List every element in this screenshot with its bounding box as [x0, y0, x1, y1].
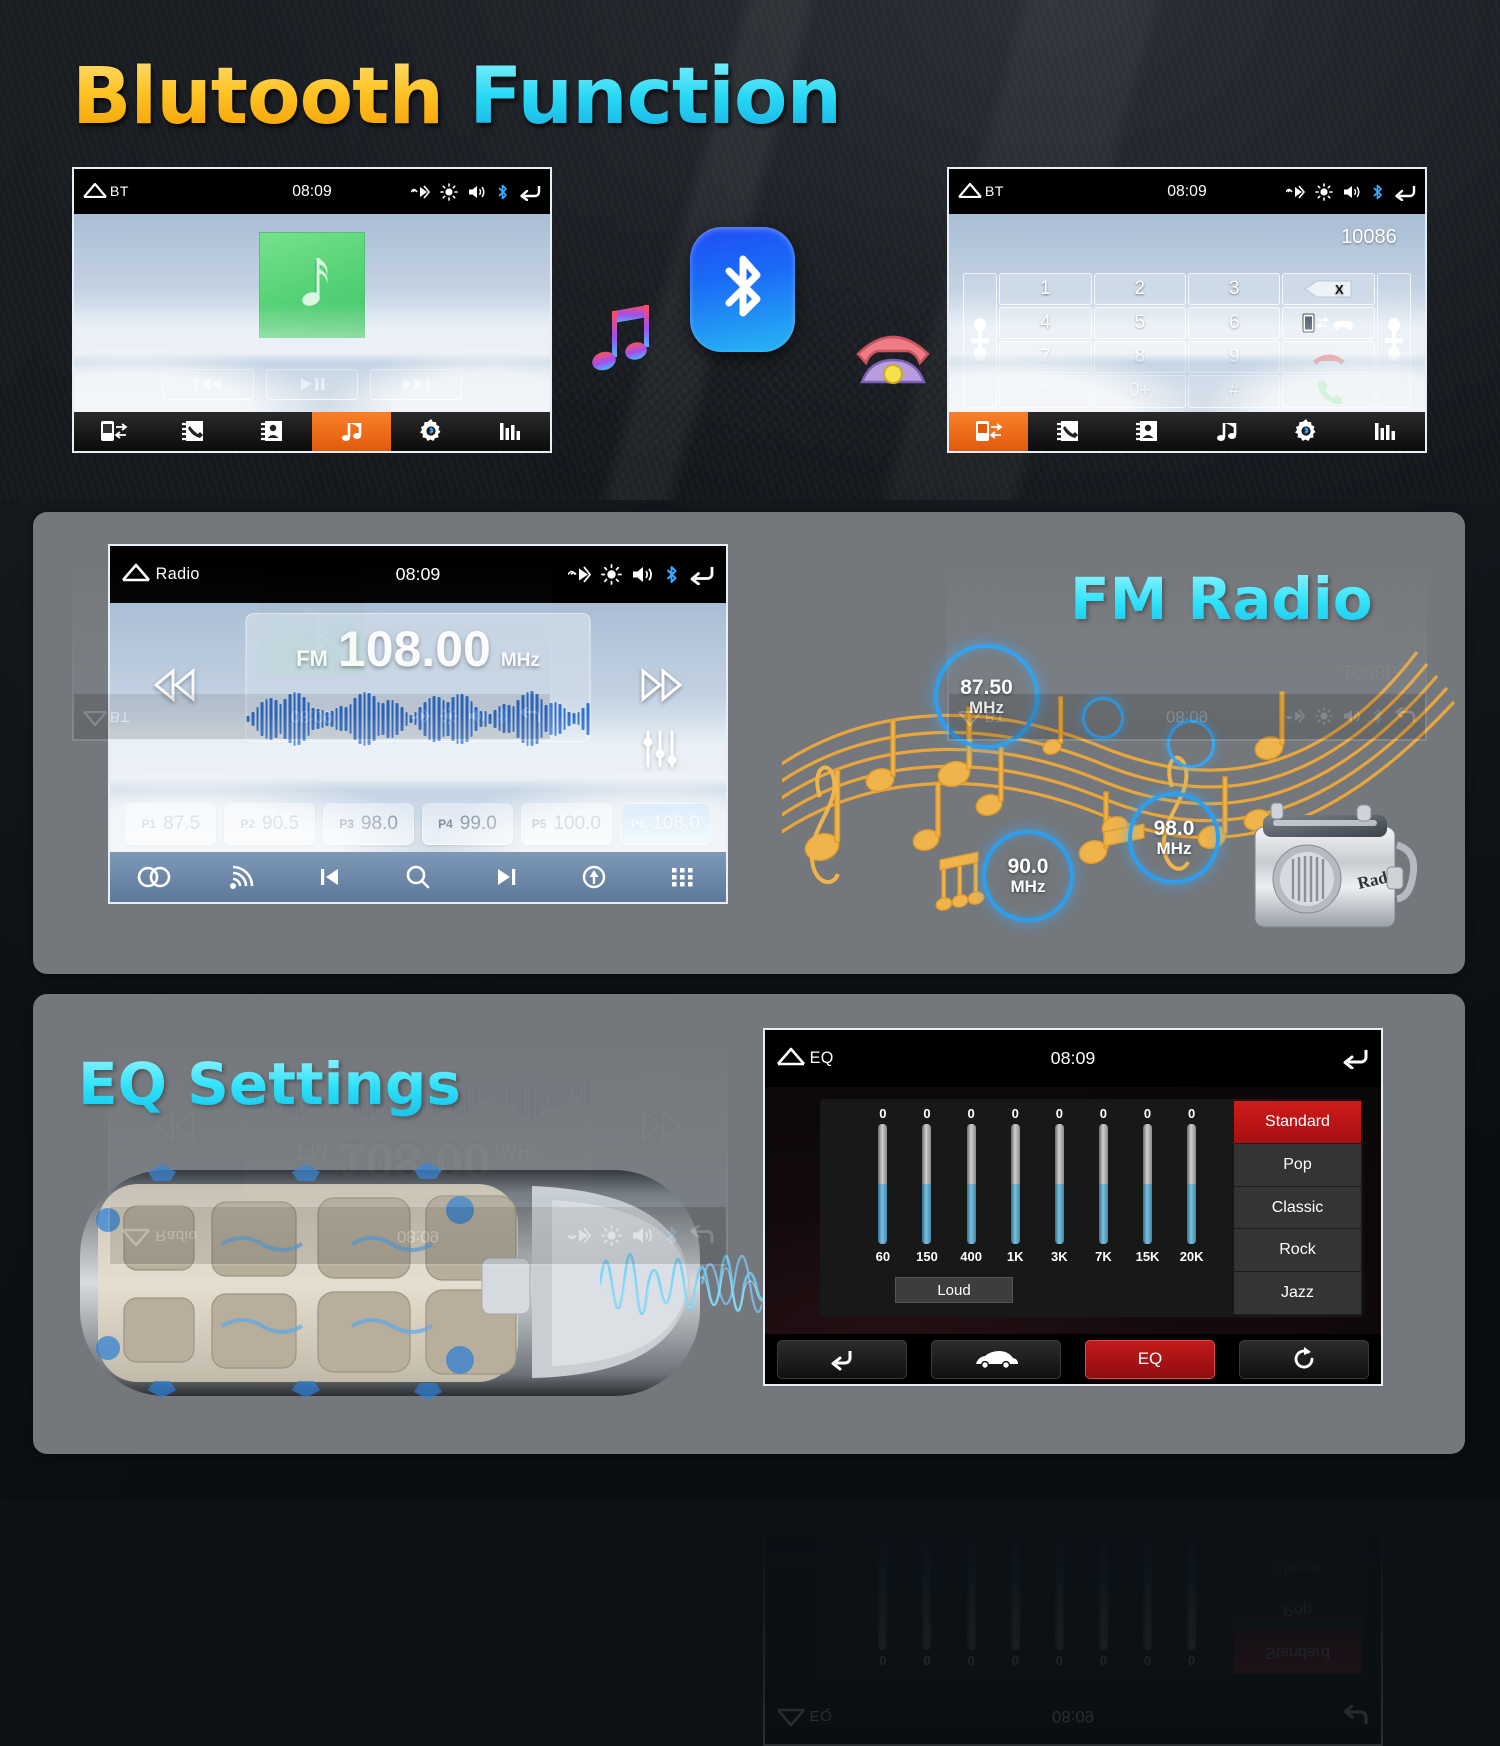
- stereo-icon[interactable]: [110, 865, 198, 889]
- seek-down-button[interactable]: [153, 668, 197, 707]
- eq-band-value: 0: [967, 1106, 974, 1121]
- dial-key-5[interactable]: 5: [1094, 307, 1186, 339]
- waveform-bar: [563, 708, 566, 731]
- eq-band-1K: 01K: [996, 1510, 1034, 1668]
- nav-call-log[interactable]: [153, 412, 232, 451]
- preset-p3[interactable]: P3 98.0: [323, 803, 414, 845]
- eq-band-fill: [878, 1530, 887, 1590]
- bt-music-clock: 08:09: [292, 183, 331, 201]
- frequency-unit: MHz: [501, 650, 540, 672]
- eq-toolbar[interactable]: EQ: [765, 1334, 1381, 1384]
- waveform-bar: [428, 698, 431, 740]
- frequency-bubble-98-0: 98.0 MHz: [1128, 792, 1220, 884]
- bubble-unit: MHz: [1157, 840, 1192, 858]
- brightness-icon[interactable]: [1315, 183, 1333, 201]
- eq-band-label: 3K: [1051, 1510, 1068, 1525]
- eq-band-value: 0: [1012, 1106, 1019, 1121]
- home-icon[interactable]: [82, 182, 108, 202]
- waveform-bar: [573, 713, 576, 724]
- bt-music-title: BT: [110, 184, 129, 200]
- preset-p2[interactable]: P2 90.5: [224, 803, 315, 845]
- waveform-bar: [540, 699, 543, 738]
- waveform-bar: [317, 709, 320, 730]
- bt-dial-screenbody: 10086 1 2 3 X 4 5 6: [949, 214, 1425, 411]
- eq-band-3K: 03K: [1040, 1510, 1078, 1668]
- next-track-button[interactable]: [370, 369, 462, 400]
- eq-band-value: 0: [923, 1106, 930, 1121]
- waveform-bar: [396, 703, 399, 735]
- waveform-bar: [549, 703, 552, 735]
- bluetooth-icon[interactable]: [496, 183, 509, 201]
- bubble-unit: MHz: [1011, 878, 1046, 896]
- eq-clock: 08:09: [1051, 1048, 1096, 1069]
- bt-music-statusbar: BT 08:09: [74, 169, 550, 214]
- waveform-bar: [386, 700, 389, 737]
- eq-band-label: 20K: [1180, 1510, 1204, 1525]
- bubble-unit: MHz: [969, 699, 1004, 717]
- eq-card: 0600150040001K03K07K015K020K Loud Standa…: [820, 1099, 1362, 1317]
- dial-key-0[interactable]: 0+: [1094, 375, 1186, 407]
- car-audio-button[interactable]: [931, 1340, 1060, 1379]
- radio-head-unit[interactable]: Radio 08:09: [108, 544, 728, 904]
- eq-band-value: 0: [967, 1653, 974, 1668]
- waveform-bar: [545, 705, 548, 732]
- preset-freq: 87.5: [163, 813, 200, 835]
- bt-dial-title: BT: [985, 184, 1004, 200]
- bt-dial-navbar[interactable]: [949, 412, 1425, 451]
- eq-band-value: 0: [1056, 1653, 1063, 1668]
- eq-band-area[interactable]: 0600150040001K03K07K015K020K Loud: [820, 1099, 1232, 1317]
- waveform-bar: [442, 700, 445, 737]
- brightness-icon[interactable]: [601, 564, 622, 585]
- waveform-bar: [331, 711, 334, 727]
- eq-band-1K[interactable]: 01K: [996, 1106, 1034, 1264]
- waveform-bar: [554, 702, 557, 735]
- preset-p6[interactable]: P6 108.0: [620, 803, 711, 845]
- waveform-bar: [284, 699, 287, 739]
- bluetooth-icon[interactable]: [664, 564, 679, 585]
- nav-bt-settings[interactable]: [391, 412, 470, 451]
- nav-bt-settings[interactable]: [1266, 412, 1345, 451]
- waveform-bar: [512, 706, 515, 732]
- eq-band-fill: [1143, 1530, 1152, 1590]
- preset-freq: 90.5: [262, 813, 299, 835]
- bluetooth-hero-artwork: [575, 225, 935, 415]
- bluetooth-icon[interactable]: [1371, 183, 1384, 201]
- preset-freq: 100.0: [553, 813, 601, 835]
- svg-text:X: X: [1335, 282, 1344, 297]
- loud-button[interactable]: Loud: [895, 1277, 1013, 1303]
- eq-band-20K[interactable]: 020K: [1173, 1106, 1211, 1264]
- signal-icon[interactable]: [198, 864, 286, 890]
- waveform-bar: [368, 693, 371, 746]
- eq-band-value: 0: [1100, 1653, 1107, 1668]
- dial-key-star[interactable]: *: [999, 375, 1091, 407]
- eq-band-slider[interactable]: [922, 1124, 931, 1244]
- eq-head-unit[interactable]: EQ 08:09 0600150040001K03K07K015K020K Lo…: [763, 1028, 1383, 1386]
- eq-band-fill: [878, 1184, 887, 1244]
- nav-equalizer[interactable]: [471, 412, 550, 451]
- waveform-bar: [568, 712, 571, 726]
- bubble-value: 87.50: [960, 677, 1013, 699]
- eq-band-fill: [967, 1184, 976, 1244]
- radio-toolbar[interactable]: [110, 852, 726, 902]
- waveform-bar: [377, 702, 380, 736]
- play-pause-button[interactable]: [266, 369, 358, 400]
- waveform-bar: [414, 712, 417, 725]
- waveform-bar: [256, 707, 259, 731]
- waveform-bar: [447, 702, 450, 736]
- dial-key-7[interactable]: 7: [999, 341, 1091, 373]
- frequency-bubble-90-0: 90.0 MHz: [982, 830, 1074, 922]
- eq-band-label: 15K: [1136, 1249, 1160, 1264]
- eq-band-label: 60: [876, 1510, 890, 1525]
- eq-button[interactable]: EQ: [1085, 1340, 1214, 1379]
- eq-back-button[interactable]: [777, 1340, 906, 1379]
- waveform-bar: [335, 708, 338, 730]
- home-icon[interactable]: [957, 182, 983, 202]
- eq-band-fill: [967, 1530, 976, 1590]
- waveform-bar: [470, 701, 473, 737]
- volume-icon[interactable]: [1342, 184, 1362, 200]
- eq-band-fill: [1187, 1530, 1196, 1590]
- eq-statusbar: EQ 08:09: [765, 1687, 1381, 1744]
- eq-band-slider[interactable]: [1187, 1124, 1196, 1244]
- preset-slot: P3: [339, 817, 354, 831]
- eq-band-150[interactable]: 0150: [908, 1106, 946, 1264]
- eq-preset-classic: Classic: [1234, 1545, 1360, 1588]
- eq-band-3K[interactable]: 03K: [1040, 1106, 1078, 1264]
- bubble-value: 90.0: [1008, 856, 1049, 878]
- dial-key-4[interactable]: 4: [999, 307, 1091, 339]
- eq-band-label: 60: [876, 1249, 890, 1264]
- waveform-bar: [298, 693, 301, 745]
- album-art: [259, 232, 365, 338]
- bluetooth-logo-icon: [690, 227, 795, 352]
- waveform-bar: [475, 707, 478, 732]
- waveform-bar: [507, 705, 510, 734]
- eq-band-fill: [1011, 1530, 1020, 1590]
- brightness-icon[interactable]: [440, 183, 458, 201]
- eq-band-label: 150: [916, 1510, 938, 1525]
- nav-equalizer[interactable]: [1346, 412, 1425, 451]
- waveform-bar: [354, 698, 357, 740]
- nav-contacts[interactable]: [1108, 412, 1187, 451]
- waveform-bar: [382, 703, 385, 736]
- eq-band-fill: [1099, 1184, 1108, 1244]
- nav-music[interactable]: [1187, 412, 1266, 451]
- frequency-display: FM 108.00 MHz: [246, 613, 591, 743]
- eq-band-slider: [967, 1530, 976, 1650]
- decorative-bubble: [1167, 720, 1215, 768]
- eq-band-15K[interactable]: 015K: [1128, 1106, 1166, 1264]
- waveform-bar: [493, 710, 496, 727]
- eq-band-fill: [1055, 1530, 1064, 1590]
- eq-band-slider: [922, 1530, 931, 1650]
- waveform-bar: [587, 703, 590, 736]
- backspace-key[interactable]: X: [1282, 273, 1374, 305]
- eq-band-400[interactable]: 0400: [952, 1106, 990, 1264]
- radio-clock: 08:09: [396, 564, 441, 585]
- frequency-value: 108.00: [338, 624, 491, 674]
- eq-band-slider: [1055, 1530, 1064, 1650]
- eq-band-fill: [1143, 1184, 1152, 1244]
- waveform-bar: [340, 706, 343, 731]
- back-icon[interactable]: [518, 183, 542, 201]
- eq-band-value: 0: [1012, 1653, 1019, 1668]
- keypad-grid-icon[interactable]: [638, 865, 726, 889]
- waveform-bar: [582, 708, 585, 730]
- waveform-bar: [358, 694, 361, 745]
- eq-band-slider: [1143, 1530, 1152, 1650]
- voice-car-icon[interactable]: [411, 184, 431, 200]
- audio-settings-icon[interactable]: [640, 728, 680, 775]
- reset-button[interactable]: [1239, 1340, 1368, 1379]
- eq-band-fill: [1055, 1184, 1064, 1244]
- eq-preset-standard[interactable]: Standard: [1234, 1101, 1360, 1144]
- eq-band-label: 3K: [1051, 1249, 1068, 1264]
- waveform-bar: [279, 704, 282, 735]
- telephone-icon: [850, 320, 936, 397]
- dialed-number-display: 10086: [963, 220, 1410, 273]
- preset-p1[interactable]: P1 87.5: [125, 803, 216, 845]
- eq-band-label: 400: [960, 1510, 982, 1525]
- waveform-bar: [559, 704, 562, 734]
- waveform-bar: [270, 698, 273, 740]
- preset-slot: P4: [438, 817, 453, 831]
- waveform-bar: [303, 697, 306, 741]
- preset-slot: P5: [532, 817, 547, 831]
- eq-screenbody: 0600150040001K03K07K015K020K Loud Standa…: [765, 1087, 1381, 1335]
- eq-band-150: 0150: [908, 1510, 946, 1668]
- page-title-cyan: Function: [469, 52, 841, 142]
- eq-settings-heading: EQ Settings: [78, 1050, 461, 1118]
- eq-band-60: 060: [864, 1510, 902, 1668]
- eq-statusbar: EQ 08:09: [765, 1030, 1381, 1087]
- eq-band-7K: 07K: [1084, 1510, 1122, 1668]
- back-icon[interactable]: [1341, 1047, 1371, 1069]
- waveform-bar: [484, 711, 487, 726]
- preset-list[interactable]: P1 87.5 P2 90.5 P3 98.0 P4 99.0 P5 100: [125, 803, 710, 845]
- eq-band-fill: [1187, 1184, 1196, 1244]
- waveform-bar: [498, 706, 501, 731]
- eq-band-slider[interactable]: [878, 1124, 887, 1244]
- dial-key-6[interactable]: 6: [1188, 307, 1280, 339]
- waveform-bar: [289, 694, 292, 743]
- voice-car-icon[interactable]: [1286, 184, 1306, 200]
- antenna-icon[interactable]: [550, 864, 638, 890]
- dial-key-2[interactable]: 2: [1094, 273, 1186, 305]
- eq-band-label: 15K: [1136, 1510, 1160, 1525]
- radio-statusbar: Radio 08:09: [110, 546, 726, 603]
- waveform-bar: [261, 702, 264, 735]
- eq-band-value: 0: [879, 1106, 886, 1121]
- eq-band-label: 150: [916, 1249, 938, 1264]
- eq-band-fill: [1011, 1184, 1020, 1244]
- frequency-bubble-87-50: 87.50 MHz: [934, 644, 1039, 749]
- waveform-bar: [480, 711, 483, 727]
- eq-title: EQ: [810, 1707, 833, 1724]
- dial-key-1[interactable]: 1: [999, 273, 1091, 305]
- waveform-bar: [363, 692, 366, 747]
- back-icon[interactable]: [688, 564, 716, 585]
- eq-band-slider[interactable]: [1055, 1124, 1064, 1244]
- waveform-bar: [535, 694, 538, 743]
- hangup-key[interactable]: [1282, 341, 1374, 373]
- eq-band-value: 0: [1144, 1106, 1151, 1121]
- waveform-bar: [344, 707, 347, 731]
- dial-key-9[interactable]: 9: [1188, 341, 1280, 373]
- bt-music-navbar[interactable]: [74, 412, 550, 451]
- waveform-bar: [307, 702, 310, 735]
- transfer-call-key[interactable]: [1282, 307, 1374, 339]
- eq-band-value: 0: [923, 1653, 930, 1668]
- eq-band-slider[interactable]: [1011, 1124, 1020, 1244]
- eq-band-label: 7K: [1095, 1249, 1112, 1264]
- waveform-bar: [251, 712, 254, 726]
- bubble-value: 98.0: [1154, 818, 1195, 840]
- bt-music-head-unit[interactable]: BT 08:09: [72, 167, 552, 453]
- nav-phone-sync[interactable]: [949, 412, 1028, 451]
- eq-band-slider: [1011, 1530, 1020, 1650]
- eq-band-label: 1K: [1007, 1510, 1024, 1525]
- prev-station-icon[interactable]: [286, 865, 374, 889]
- preset-slot: P6: [631, 817, 646, 831]
- waveform-bar: [466, 696, 469, 742]
- dial-key-hash[interactable]: #: [1188, 375, 1280, 407]
- waveform-bar: [391, 700, 394, 737]
- nav-call-log[interactable]: [1028, 412, 1107, 451]
- eq-band-label: 400: [960, 1249, 982, 1264]
- eq-band-label: 20K: [1180, 1249, 1204, 1264]
- waveform-bar: [433, 696, 436, 742]
- eq-preset-pop[interactable]: Pop: [1234, 1144, 1360, 1187]
- waveform-bar: [349, 704, 352, 734]
- waveform-bar: [503, 704, 506, 733]
- preset-freq: 99.0: [460, 813, 497, 835]
- fm-radio-artwork: 87.50 MHz 90.0 MHz 98.0 MHz: [782, 552, 1462, 952]
- eq-band-slider[interactable]: [1099, 1124, 1108, 1244]
- waveform-bar: [293, 692, 296, 745]
- eq-band-value: 0: [1056, 1106, 1063, 1121]
- back-icon: [1341, 1705, 1371, 1727]
- volume-down-side-button[interactable]: [963, 273, 997, 408]
- eq-band-slider[interactable]: [1143, 1124, 1152, 1244]
- eq-band-fill: [1099, 1530, 1108, 1590]
- band-label: FM: [296, 646, 328, 672]
- preset-p5[interactable]: P5 100.0: [521, 803, 612, 845]
- volume-icon[interactable]: [467, 184, 487, 200]
- waveform-bar: [312, 708, 315, 730]
- eq-band-60[interactable]: 060: [864, 1106, 902, 1264]
- audio-waveform: [247, 688, 590, 750]
- eq-band-slider[interactable]: [967, 1124, 976, 1244]
- home-icon[interactable]: [120, 562, 152, 587]
- waveform-bar: [452, 697, 455, 741]
- eq-preset-classic[interactable]: Classic: [1234, 1187, 1360, 1230]
- home-icon[interactable]: [775, 1046, 807, 1071]
- waveform-bar: [521, 695, 524, 743]
- call-key[interactable]: [1282, 375, 1374, 407]
- bt-dialer-head-unit[interactable]: BT 08:09 10086: [947, 167, 1427, 453]
- waveform-bar: [456, 694, 459, 744]
- eq-band-7K[interactable]: 07K: [1084, 1106, 1122, 1264]
- waveform-bar: [265, 699, 268, 739]
- preset-slot: P1: [141, 817, 156, 831]
- nav-contacts[interactable]: [233, 412, 312, 451]
- eq-band-value: 0: [1188, 1106, 1195, 1121]
- bt-dial-clock: 08:09: [1167, 183, 1206, 201]
- waveform-bar: [326, 712, 329, 725]
- eq-preset-rock: Rock: [1234, 1502, 1360, 1545]
- waveform-bar: [321, 710, 324, 729]
- eq-band-label: 7K: [1095, 1510, 1112, 1525]
- bt-dial-statusbar: BT 08:09: [949, 169, 1425, 214]
- nav-phone-sync[interactable]: [74, 412, 153, 451]
- back-icon[interactable]: [1393, 183, 1417, 201]
- prev-track-button[interactable]: [162, 369, 254, 400]
- radio-title: Radio: [156, 565, 200, 584]
- eq-preset-pop: Pop: [1234, 1587, 1360, 1630]
- eq-slider-strip: 0600150040001K03K07K015K020K: [864, 1510, 1211, 1642]
- eq-band-value: 0: [1144, 1653, 1151, 1668]
- waveform-bar: [419, 707, 422, 730]
- waveform-bar: [424, 702, 427, 736]
- eq-band-value: 0: [1100, 1106, 1107, 1121]
- eq-band-label: 1K: [1007, 1249, 1024, 1264]
- eq-band-20K: 020K: [1173, 1510, 1211, 1668]
- seek-up-button[interactable]: [639, 668, 683, 707]
- scan-search-icon[interactable]: [374, 864, 462, 890]
- nav-music[interactable]: [312, 412, 391, 451]
- eq-band-15K: 015K: [1128, 1510, 1166, 1668]
- page-title-yellow: Blutooth: [72, 52, 443, 142]
- voice-car-icon[interactable]: [568, 565, 592, 584]
- home-icon: [775, 1703, 807, 1728]
- decorative-bubble: [1082, 697, 1124, 739]
- waveform-bar: [372, 696, 375, 741]
- waveform-bar: [517, 700, 520, 738]
- eq-band-value: 0: [1188, 1653, 1195, 1668]
- preset-freq: 98.0: [361, 813, 398, 835]
- waveform-bar: [531, 691, 534, 746]
- page-title: Blutooth Function: [72, 52, 841, 142]
- media-controls[interactable]: [162, 369, 462, 400]
- eq-band-fill: [922, 1530, 931, 1590]
- next-station-icon[interactable]: [462, 865, 550, 889]
- dial-keypad[interactable]: 1 2 3 X 4 5 6 7 8 9: [999, 273, 1374, 408]
- waveform-bar: [400, 707, 403, 731]
- eq-slider-strip[interactable]: 0600150040001K03K07K015K020K: [864, 1132, 1211, 1264]
- preset-p4[interactable]: P4 99.0: [422, 803, 513, 845]
- eq-preset-list[interactable]: Standard Pop Classic Rock Jazz: [1232, 1099, 1362, 1317]
- volume-icon[interactable]: [631, 565, 655, 584]
- eq-title: EQ: [810, 1049, 834, 1068]
- waveform-bar: [410, 715, 413, 723]
- bt-music-screenbody: [74, 214, 550, 411]
- dial-key-3[interactable]: 3: [1188, 273, 1280, 305]
- portable-radio-illustration: Radio: [1237, 797, 1437, 942]
- eq-band-fill: [922, 1184, 931, 1244]
- preset-slot: P2: [240, 817, 255, 831]
- eq-band-400: 0400: [952, 1510, 990, 1668]
- dial-key-8[interactable]: 8: [1094, 341, 1186, 373]
- eq-preset-jazz[interactable]: Jazz: [1234, 1272, 1360, 1315]
- waveform-bar: [247, 716, 250, 722]
- volume-up-side-button[interactable]: [1377, 273, 1411, 408]
- eq-band-value: 0: [879, 1653, 886, 1668]
- eq-preset-rock[interactable]: Rock: [1234, 1229, 1360, 1272]
